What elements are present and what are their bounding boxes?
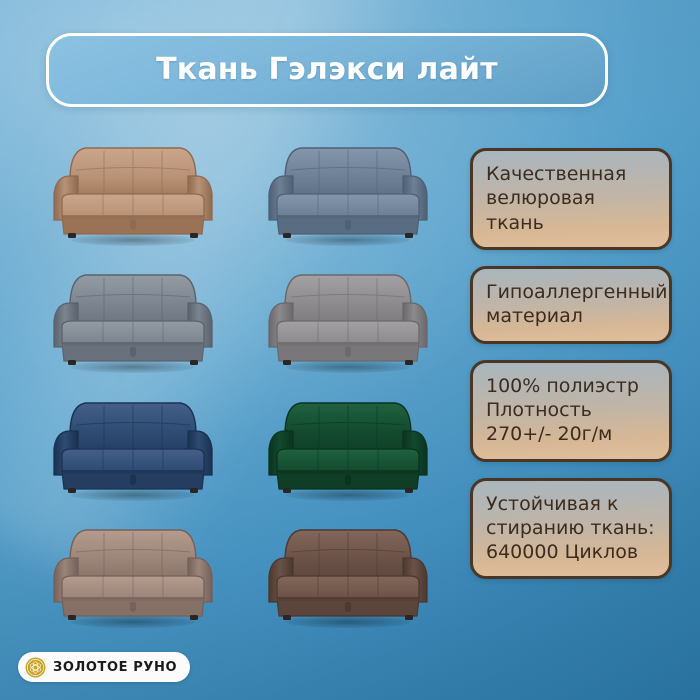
sofa-illustration	[255, 136, 441, 248]
sofa-sample-5[interactable]	[30, 383, 235, 511]
sofa-sample-4[interactable]	[245, 256, 450, 384]
feature-box-3: 100% полиэстр Плотность 270+/- 20г/м	[470, 360, 672, 462]
feature-box-4: Устойчивая к стиранию ткань: 640000 Цикл…	[470, 478, 672, 580]
feature-text: Устойчивая к стиранию ткань: 640000 Цикл…	[486, 492, 656, 565]
poster-canvas: Ткань Гэлэкси лайт	[0, 0, 700, 700]
sofa-illustration	[40, 391, 226, 503]
sofa-sample-7[interactable]	[30, 511, 235, 639]
sofa-illustration	[255, 263, 441, 375]
title-banner: Ткань Гэлэкси лайт	[46, 33, 608, 107]
feature-text: Гипоаллергенный материал	[486, 280, 656, 329]
sofa-sample-8[interactable]	[245, 511, 450, 639]
sofa-illustration	[255, 518, 441, 630]
sofa-illustration	[40, 263, 226, 375]
rosette-logo-icon	[25, 657, 46, 678]
sofa-illustration	[255, 391, 441, 503]
feature-box-1: Качественная велюровая ткань	[470, 148, 672, 250]
sofa-illustration	[40, 136, 226, 248]
sofa-sample-6[interactable]	[245, 383, 450, 511]
sofa-sample-1[interactable]	[30, 128, 235, 256]
sofa-sample-3[interactable]	[30, 256, 235, 384]
brand-name: ЗОЛОТОЕ РУНО	[53, 661, 177, 674]
sofa-sample-2[interactable]	[245, 128, 450, 256]
feature-box-2: Гипоаллергенный материал	[470, 266, 672, 344]
page-title: Ткань Гэлэкси лайт	[156, 55, 498, 85]
feature-text: 100% полиэстр Плотность 270+/- 20г/м	[486, 374, 656, 447]
brand-badge[interactable]: ЗОЛОТОЕ РУНО	[18, 652, 190, 682]
sofa-color-gallery	[30, 128, 450, 638]
feature-text: Качественная велюровая ткань	[486, 162, 656, 235]
sofa-illustration	[40, 518, 226, 630]
feature-list: Качественная велюровая тканьГипоаллерген…	[470, 148, 672, 579]
